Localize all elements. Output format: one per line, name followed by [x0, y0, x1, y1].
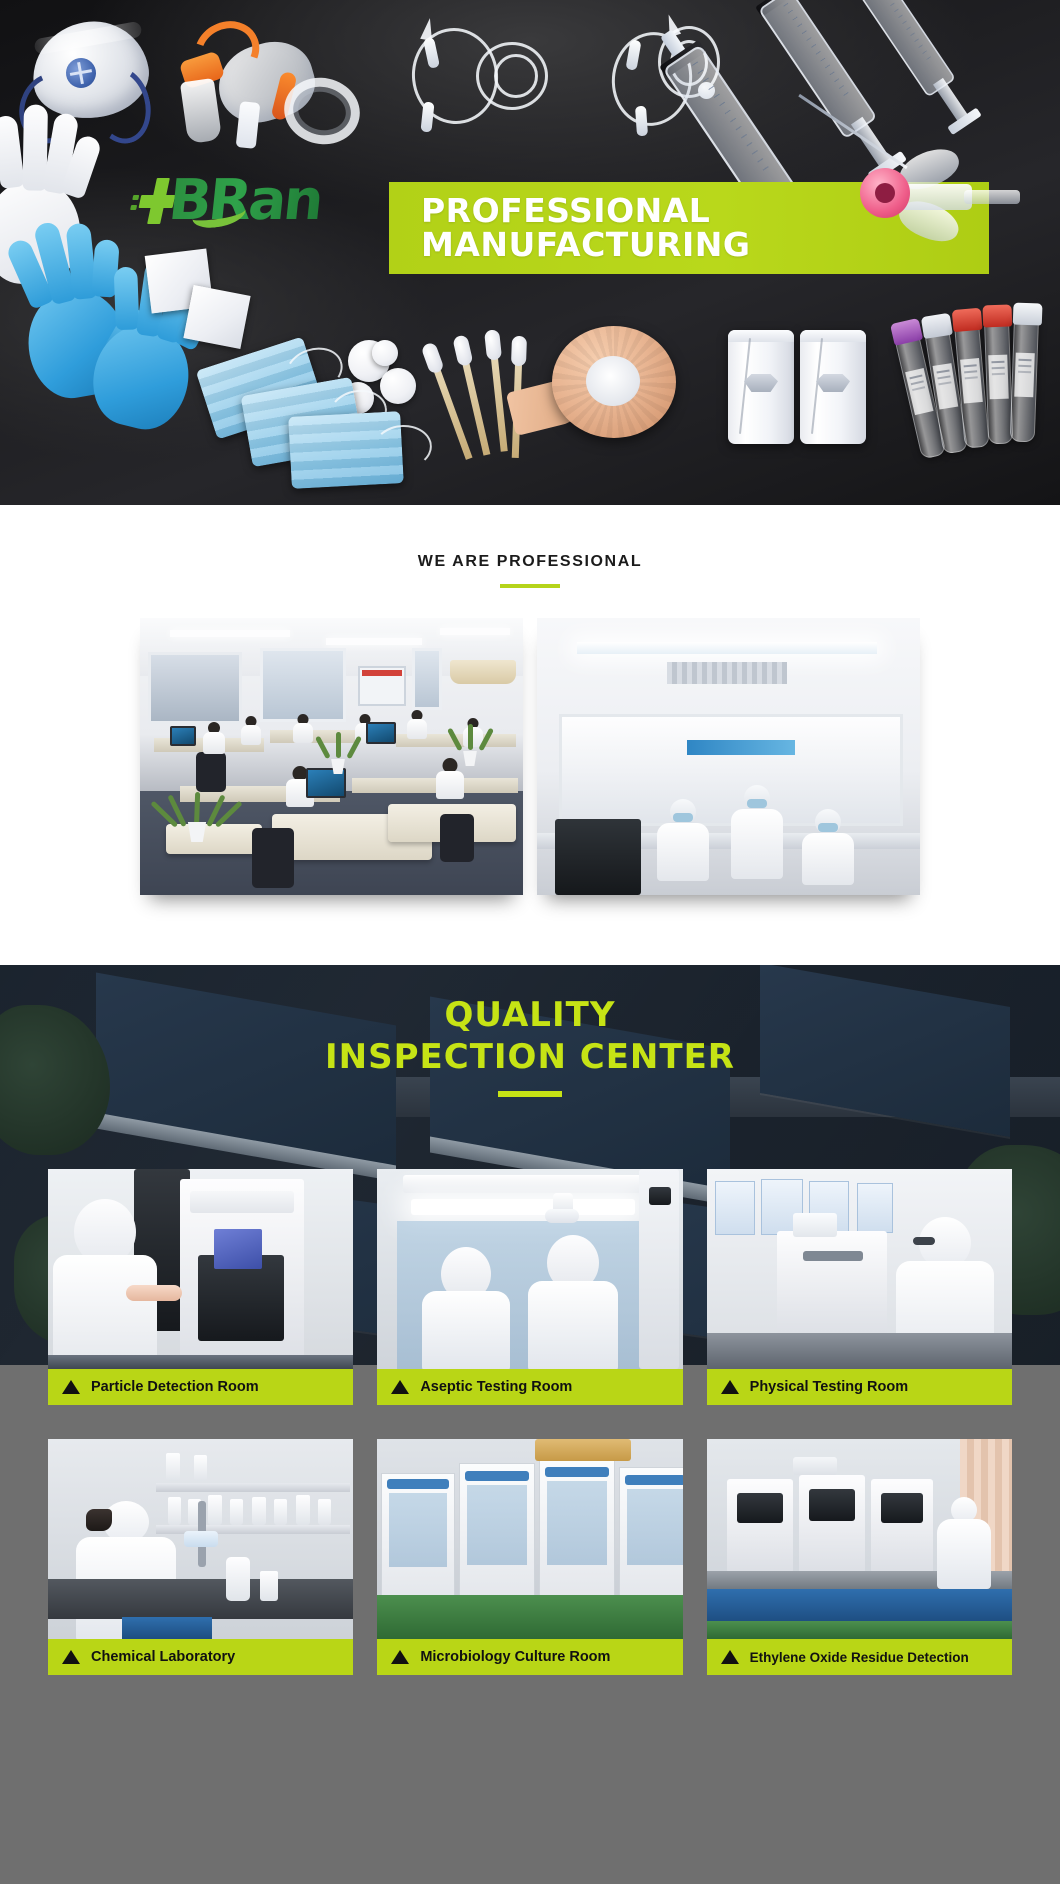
blood-collection-tube-icon	[1010, 318, 1039, 443]
triangle-up-icon	[721, 1650, 739, 1664]
card-label: Ethylene Oxide Residue Detection	[750, 1650, 969, 1665]
triangle-up-icon	[391, 1650, 409, 1664]
physical-testing-room-photo	[707, 1169, 1012, 1369]
card-caption: Physical Testing Room	[707, 1369, 1012, 1405]
oxygen-mask-icon	[176, 16, 366, 146]
surgical-face-mask-icon	[288, 411, 404, 489]
triangle-up-icon	[62, 1380, 80, 1394]
inspection-card[interactable]: Chemical Laboratory	[48, 1439, 353, 1675]
cotton-ball-icon	[380, 368, 416, 404]
card-caption: Chemical Laboratory	[48, 1639, 353, 1675]
particle-detection-room-photo	[48, 1169, 353, 1369]
chemical-laboratory-photo	[48, 1439, 353, 1639]
brand-logo[interactable]: BRan	[140, 178, 320, 224]
inspection-card[interactable]: Physical Testing Room	[707, 1169, 1012, 1405]
ethylene-oxide-residue-detection-photo	[707, 1439, 1012, 1639]
office-team-photo	[140, 618, 523, 895]
card-label: Particle Detection Room	[91, 1379, 259, 1395]
triangle-up-icon	[391, 1380, 409, 1394]
elastic-bandage-roll-icon	[552, 326, 676, 438]
cotton-swab-icon	[420, 341, 434, 346]
inspection-card[interactable]: Ethylene Oxide Residue Detection	[707, 1439, 1012, 1675]
card-caption: Particle Detection Room	[48, 1369, 353, 1405]
gauze-swab-icon	[183, 285, 250, 349]
hero-banner: PROFESSIONAL MANUFACTURING BRan	[0, 0, 1060, 505]
card-caption: Aseptic Testing Room	[377, 1369, 682, 1405]
card-label: Aseptic Testing Room	[420, 1379, 572, 1395]
cotton-swab-icon	[452, 334, 467, 337]
quality-title-underline	[498, 1091, 562, 1097]
quality-title-line-1: QUALITY	[0, 995, 1060, 1035]
title-underline	[500, 584, 560, 588]
section-title: WE ARE PROFESSIONAL	[0, 505, 1060, 571]
iv-infusion-set-icon	[398, 10, 578, 145]
card-label: Microbiology Culture Room	[420, 1649, 610, 1665]
quality-inspection-center-section: QUALITY INSPECTION CENTER	[0, 965, 1060, 1884]
card-label: Physical Testing Room	[750, 1379, 908, 1395]
cohesive-bandage-roll-icon	[800, 330, 866, 444]
card-caption: Ethylene Oxide Residue Detection	[707, 1639, 1012, 1675]
microbiology-culture-room-photo	[377, 1439, 682, 1639]
triangle-up-icon	[721, 1380, 739, 1394]
quality-title-line-2: INSPECTION CENTER	[0, 1037, 1060, 1077]
triangle-up-icon	[62, 1650, 80, 1664]
aseptic-testing-room-photo	[377, 1169, 682, 1369]
cotton-swab-icon	[512, 336, 527, 337]
professional-photo-row	[0, 618, 1060, 895]
we-are-professional-section: WE ARE PROFESSIONAL	[0, 505, 1060, 965]
inspection-card[interactable]: Aseptic Testing Room	[377, 1169, 682, 1405]
cotton-swab-icon	[484, 329, 499, 331]
inspection-card[interactable]: Microbiology Culture Room	[377, 1439, 682, 1675]
cleanroom-laboratory-photo	[537, 618, 920, 895]
card-label: Chemical Laboratory	[91, 1649, 235, 1665]
inspection-room-grid: Particle Detection Room	[0, 1169, 1060, 1675]
quality-section-title: QUALITY INSPECTION CENTER	[0, 995, 1060, 1097]
cohesive-bandage-roll-icon	[728, 330, 794, 444]
iv-catheter-icon	[824, 150, 1014, 260]
blood-collection-tube-icon	[984, 320, 1013, 445]
inspection-card[interactable]: Particle Detection Room	[48, 1169, 353, 1405]
cotton-ball-icon	[372, 340, 398, 366]
card-caption: Microbiology Culture Room	[377, 1639, 682, 1675]
